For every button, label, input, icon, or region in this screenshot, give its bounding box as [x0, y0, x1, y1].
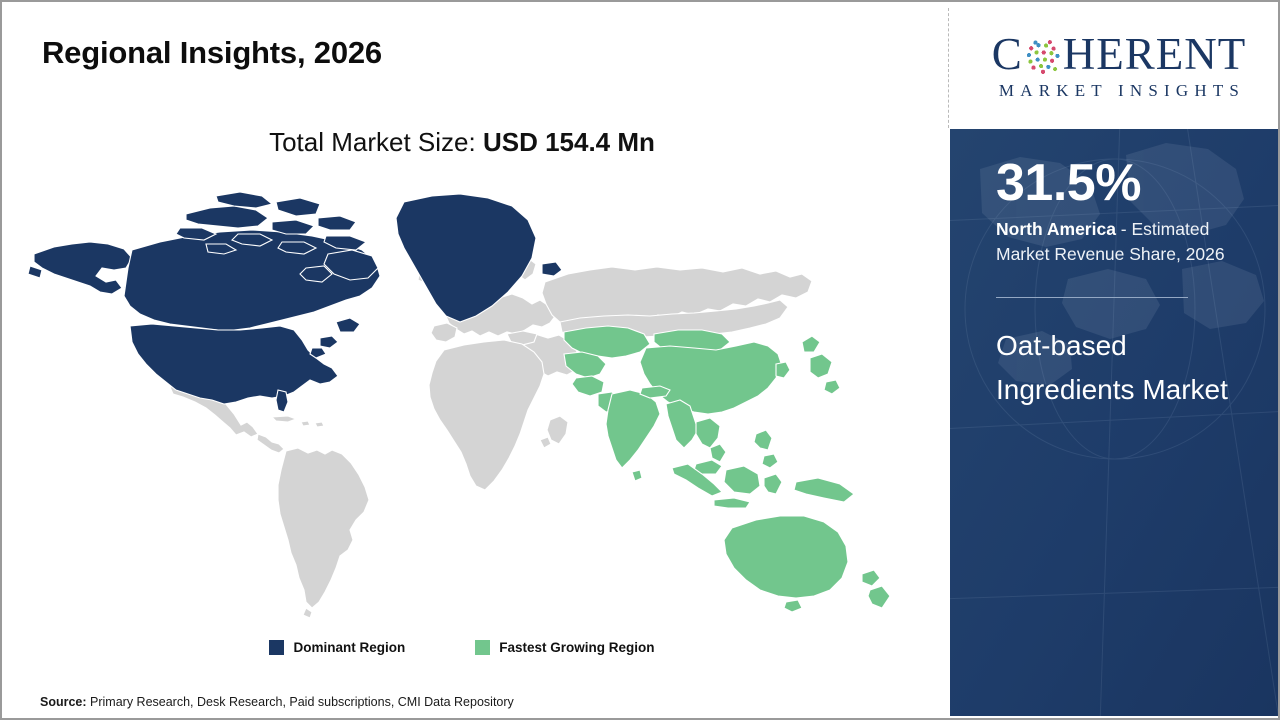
- world-map-container: [20, 182, 910, 622]
- vertical-dashed-divider: [948, 8, 949, 128]
- legend-swatch-dominant-icon: [269, 640, 284, 655]
- infographic-page: Regional Insights, 2026 Total Market Siz…: [0, 0, 1280, 720]
- legend-item-dominant: Dominant Region: [269, 640, 405, 655]
- left-content-column: Regional Insights, 2026 Total Market Siz…: [2, 2, 950, 718]
- map-legend: Dominant Region Fastest Growing Region: [2, 640, 922, 655]
- world-map-svg: [20, 182, 910, 622]
- legend-item-fastest-growing: Fastest Growing Region: [475, 640, 654, 655]
- logo-letters-herent: HERENT: [1063, 32, 1246, 77]
- total-market-size: Total Market Size: USD 154.4 Mn: [2, 127, 922, 158]
- page-title: Regional Insights, 2026: [42, 35, 382, 71]
- globe-dots-icon: [1024, 38, 1062, 76]
- map-region-asia-pacific: [564, 326, 890, 612]
- logo-subtitle: MARKET INSIGHTS: [993, 81, 1245, 101]
- legend-label-dominant: Dominant Region: [293, 640, 405, 655]
- source-note: Source: Primary Research, Desk Research,…: [40, 695, 514, 709]
- stat-description: North America - Estimated Market Revenue…: [996, 217, 1246, 267]
- logo-wordmark: C HERENT: [992, 32, 1247, 77]
- stats-panel: 31.5% North America - Estimated Market R…: [950, 129, 1280, 716]
- source-label: Source:: [40, 695, 87, 709]
- legend-swatch-fastest-growing-icon: [475, 640, 490, 655]
- market-name: Oat-based Ingredients Market: [996, 324, 1246, 412]
- stat-percentage: 31.5%: [996, 157, 1246, 209]
- panel-content: 31.5% North America - Estimated Market R…: [950, 129, 1280, 412]
- logo-letter-c: C: [992, 32, 1023, 77]
- panel-divider-rule: [996, 297, 1188, 298]
- legend-label-fastest-growing: Fastest Growing Region: [499, 640, 654, 655]
- total-market-size-label: Total Market Size:: [269, 127, 476, 157]
- company-logo: C HERENT MARKET INSIGHTS: [958, 4, 1280, 128]
- stat-region-name: North America: [996, 219, 1116, 239]
- total-market-size-value: USD 154.4 Mn: [483, 127, 655, 157]
- source-text: Primary Research, Desk Research, Paid su…: [87, 695, 514, 709]
